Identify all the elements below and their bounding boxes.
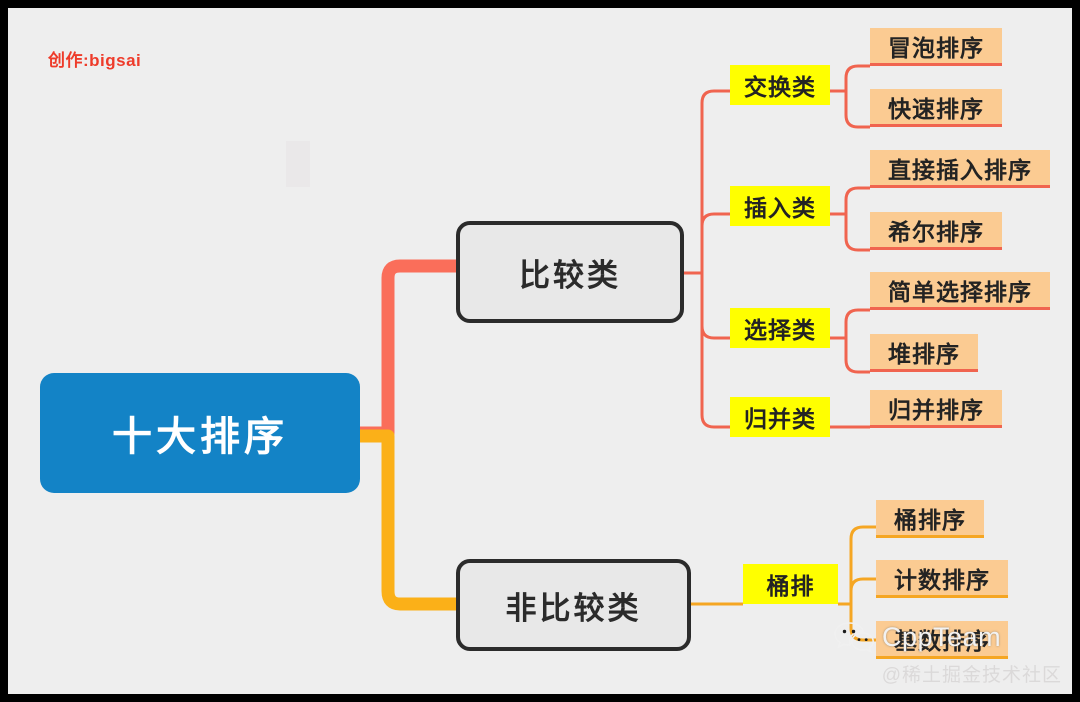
leaf-node-radix-sort-label: 基数排序: [894, 622, 990, 656]
leaf-node-bucket-sort[interactable]: 桶排序: [876, 500, 984, 538]
leaf-node-quick-sort-label: 快速排序: [888, 90, 984, 124]
root-node-label: 十大排序: [112, 404, 288, 462]
wire-comparison-to-merge: [684, 273, 730, 427]
category-node-selection[interactable]: 选择类: [730, 308, 830, 348]
wire-bucket-to-bucketsort: [838, 527, 876, 604]
wire-root-to-noncomparison: [360, 436, 456, 604]
wire-selection-to-simple: [830, 310, 870, 338]
leaf-node-counting-sort[interactable]: 计数排序: [876, 560, 1008, 598]
category-node-merge[interactable]: 归并类: [730, 397, 830, 437]
leaf-node-simple-selection-sort-label: 简单选择排序: [888, 273, 1032, 307]
wire-bucket-to-counting: [838, 579, 876, 604]
wire-comparison-to-selection: [684, 273, 730, 338]
wire-root-to-comparison: [360, 266, 456, 433]
wire-insertion-to-direct: [830, 188, 870, 214]
leaf-node-direct-insertion-sort-label: 直接插入排序: [888, 151, 1032, 185]
leaf-node-counting-sort-label: 计数排序: [894, 561, 990, 595]
category-node-insertion[interactable]: 插入类: [730, 186, 830, 226]
leaf-node-bubble-sort[interactable]: 冒泡排序: [870, 28, 1002, 66]
leaf-node-heap-sort-label: 堆排序: [888, 335, 960, 369]
leaf-node-shell-sort-label: 希尔排序: [888, 213, 984, 247]
category-node-bucket-label: 桶排: [767, 567, 815, 601]
leaf-node-merge-sort[interactable]: 归并排序: [870, 390, 1002, 428]
watermark-subtitle: @稀土掘金技术社区: [882, 660, 1062, 687]
wire-bucket-to-radix: [838, 604, 876, 640]
leaf-node-heap-sort[interactable]: 堆排序: [870, 334, 978, 372]
leaf-node-quick-sort[interactable]: 快速排序: [870, 89, 1002, 127]
leaf-node-merge-sort-label: 归并排序: [888, 391, 984, 425]
branch-node-noncomparison[interactable]: 非比较类: [456, 559, 691, 651]
ghost-watermark-artifact: [286, 141, 310, 187]
leaf-node-bucket-sort-label: 桶排序: [894, 501, 966, 535]
leaf-node-simple-selection-sort[interactable]: 简单选择排序: [870, 272, 1050, 310]
category-node-insertion-label: 插入类: [744, 189, 816, 223]
category-node-bucket[interactable]: 桶排: [743, 564, 838, 604]
leaf-node-shell-sort[interactable]: 希尔排序: [870, 212, 1002, 250]
credit-label: 创作:bigsai: [48, 46, 141, 71]
root-node[interactable]: 十大排序: [40, 373, 360, 493]
category-node-exchange-label: 交换类: [744, 68, 816, 102]
wire-insertion-to-shell: [830, 214, 870, 250]
category-node-exchange[interactable]: 交换类: [730, 65, 830, 105]
mindmap-canvas: 创作:bigsai 十大排序: [8, 8, 1072, 694]
category-node-merge-label: 归并类: [744, 400, 816, 434]
wire-comparison-to-insertion: [684, 214, 730, 273]
wechat-icon: [834, 620, 874, 654]
wire-exchange-to-quick: [830, 91, 870, 127]
branch-node-comparison-label: 比较类: [519, 250, 621, 295]
category-node-selection-label: 选择类: [744, 311, 816, 345]
wire-exchange-to-bubble: [830, 66, 870, 91]
branch-node-comparison[interactable]: 比较类: [456, 221, 684, 323]
leaf-node-bubble-sort-label: 冒泡排序: [888, 29, 984, 63]
leaf-node-direct-insertion-sort[interactable]: 直接插入排序: [870, 150, 1050, 188]
wire-selection-to-heap: [830, 338, 870, 372]
wire-comparison-to-exchange: [684, 91, 730, 273]
leaf-node-radix-sort[interactable]: 基数排序: [876, 621, 1008, 659]
branch-node-noncomparison-label: 非比较类: [506, 583, 642, 628]
